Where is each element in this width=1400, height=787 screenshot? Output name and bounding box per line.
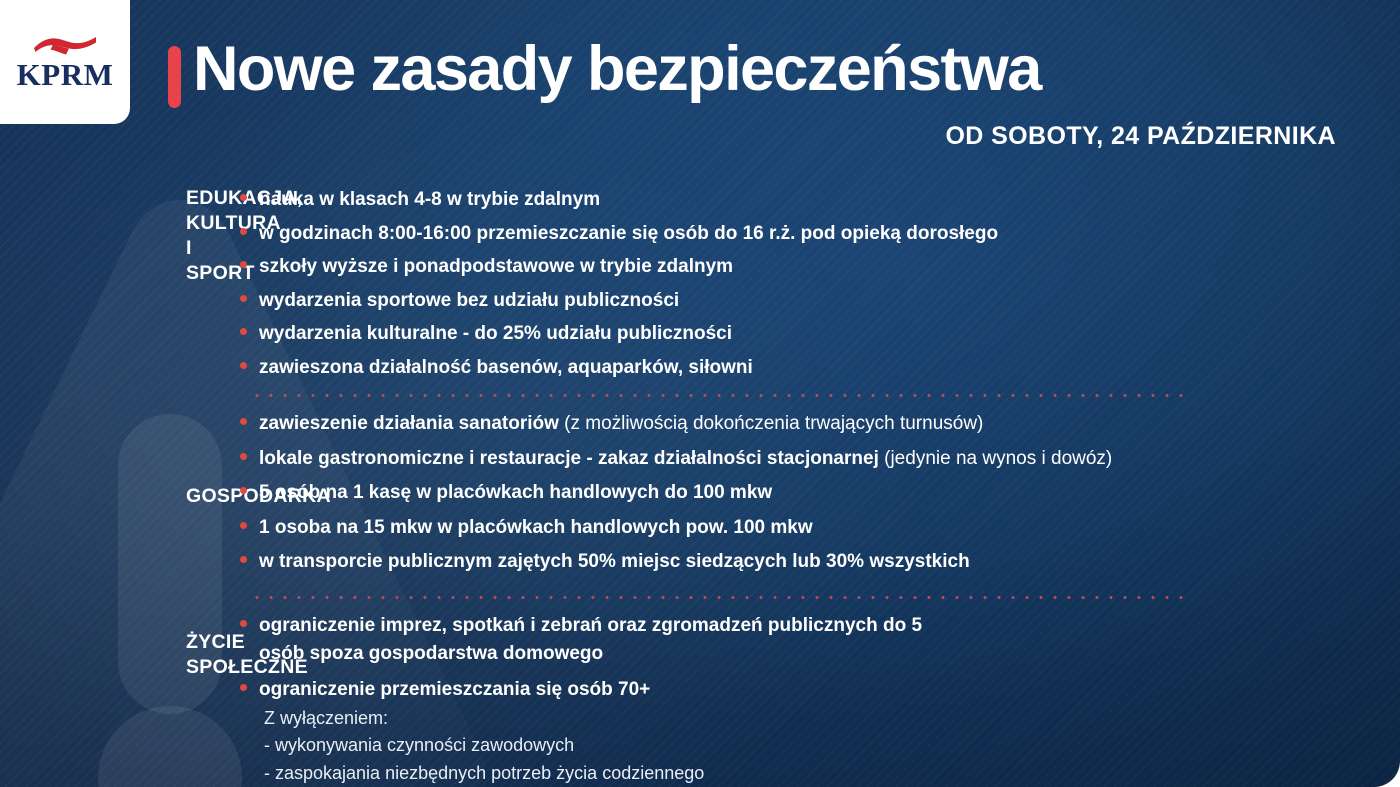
bullet-text: lokale gastronomiczne i restauracje - za… bbox=[259, 448, 879, 469]
title-accent-bar bbox=[168, 46, 181, 108]
list-item: 1 osoba na 15 mkw w placówkach handlowyc… bbox=[240, 514, 1400, 542]
section-label: GOSPODARKA bbox=[0, 484, 232, 509]
page-subtitle: OD SOBOTY, 24 PAŹDZIERNIKA bbox=[168, 122, 1340, 151]
list-item: 5 osób na 1 kasę w placówkach handlowych… bbox=[240, 479, 1400, 507]
section-zycie-spoleczne: ŻYCIE SPOŁECZNE ograniczenie imprez, spo… bbox=[0, 612, 1400, 787]
bullet-text: ograniczenie przemieszczania się osób 70… bbox=[259, 679, 650, 700]
title-row: Nowe zasady bezpieczeństwa bbox=[168, 36, 1340, 108]
section-label-line2: KULTURA I SPORT bbox=[186, 211, 232, 286]
poster-header: Nowe zasady bezpieczeństwa OD SOBOTY, 24… bbox=[168, 36, 1340, 151]
kprm-logo: KPRM bbox=[0, 0, 130, 124]
section-edukacja-kultura-i-sport: EDUKACJA, KULTURA I SPORT nauka w klasac… bbox=[0, 186, 1400, 381]
exception-item: - wykonywania czynności zawodowych bbox=[240, 733, 1400, 759]
bullet-note: (jedynie na wynos i dowóz) bbox=[879, 448, 1112, 469]
exception-item: - zaspokajania niezbędnych potrzeb życia… bbox=[240, 761, 1400, 787]
list-item: ograniczenie imprez, spotkań i zebrań or… bbox=[240, 612, 970, 667]
bullet-text: w godzinach 8:00-16:00 przemieszczanie s… bbox=[259, 223, 998, 244]
section-label-line1: GOSPODARKA bbox=[186, 484, 232, 509]
bullet-text: wydarzenia kulturalne - do 25% udziału p… bbox=[259, 323, 732, 344]
polish-flag-swoosh-icon bbox=[32, 35, 98, 57]
section-label-line1: ŻYCIE bbox=[186, 630, 232, 655]
bullet-text: 1 osoba na 15 mkw w placówkach handlowyc… bbox=[259, 517, 813, 538]
bullet-text: szkoły wyższe i ponadpodstawowe w trybie… bbox=[259, 256, 733, 277]
bullet-text: nauka w klasach 4-8 w trybie zdalnym bbox=[259, 189, 600, 210]
bullet-text: ograniczenie imprez, spotkań i zebrań or… bbox=[259, 615, 922, 664]
list-item: wydarzenia sportowe bez udziału publiczn… bbox=[240, 287, 1400, 315]
exceptions-intro: Z wyłączeniem: bbox=[240, 706, 1400, 732]
bullet-list: zawieszenie działania sanatoriów (z możl… bbox=[232, 410, 1400, 583]
section-label-line1: EDUKACJA, bbox=[186, 186, 232, 211]
rules-content: EDUKACJA, KULTURA I SPORT nauka w klasac… bbox=[0, 186, 1400, 787]
list-item: w godzinach 8:00-16:00 przemieszczanie s… bbox=[240, 220, 1400, 248]
list-item: szkoły wyższe i ponadpodstawowe w trybie… bbox=[240, 253, 1400, 281]
list-item: zawieszenie działania sanatoriów (z możl… bbox=[240, 410, 1400, 438]
bullet-list: ograniczenie imprez, spotkań i zebrań or… bbox=[232, 612, 1400, 787]
list-item: wydarzenia kulturalne - do 25% udziału p… bbox=[240, 320, 1400, 348]
list-item: ograniczenie przemieszczania się osób 70… bbox=[240, 676, 1400, 704]
infographic-poster: KPRM Nowe zasady bezpieczeństwa OD SOBOT… bbox=[0, 0, 1400, 787]
section-label-line2: SPOŁECZNE bbox=[186, 655, 232, 680]
section-gospodarka: GOSPODARKA zawieszenie działania sanator… bbox=[0, 410, 1400, 583]
bullet-text: 5 osób na 1 kasę w placówkach handlowych… bbox=[259, 482, 772, 503]
list-item: nauka w klasach 4-8 w trybie zdalnym bbox=[240, 186, 1400, 214]
list-item: lokale gastronomiczne i restauracje - za… bbox=[240, 445, 1400, 473]
bullet-text: zawieszenie działania sanatoriów bbox=[259, 413, 559, 434]
section-divider bbox=[250, 394, 1190, 397]
section-label: EDUKACJA, KULTURA I SPORT bbox=[0, 186, 232, 286]
bullet-text: w transporcie publicznym zajętych 50% mi… bbox=[259, 551, 970, 572]
section-divider bbox=[250, 596, 1190, 599]
list-item: zawieszona działalność basenów, aquapark… bbox=[240, 354, 1400, 382]
page-title: Nowe zasady bezpieczeństwa bbox=[193, 36, 1041, 102]
list-item: w transporcie publicznym zajętych 50% mi… bbox=[240, 548, 1400, 576]
bullet-note: (z możliwością dokończenia trwających tu… bbox=[559, 413, 984, 434]
section-label: ŻYCIE SPOŁECZNE bbox=[0, 612, 232, 680]
bullet-list: nauka w klasach 4-8 w trybie zdalnym w g… bbox=[232, 186, 1400, 381]
kprm-logo-text: KPRM bbox=[17, 59, 114, 90]
bullet-text: wydarzenia sportowe bez udziału publiczn… bbox=[259, 290, 679, 311]
bullet-text: zawieszona działalność basenów, aquapark… bbox=[259, 357, 753, 378]
